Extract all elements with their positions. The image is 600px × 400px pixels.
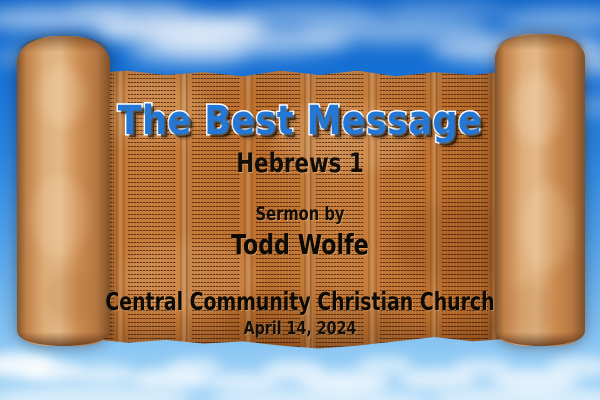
sermon-by-label: Sermon by bbox=[42, 203, 558, 225]
cloud-puff bbox=[72, 364, 136, 384]
church-name: Central Community Christian Church bbox=[48, 287, 552, 316]
scripture-reference: Hebrews 1 bbox=[36, 148, 564, 179]
sermon-slide: The Best Message Hebrews 1 Sermon by Tod… bbox=[0, 0, 600, 400]
cloud-wisp bbox=[378, 2, 508, 20]
sermon-title: The Best Message bbox=[9, 98, 591, 144]
speaker-name: Todd Wolfe bbox=[36, 228, 564, 261]
sermon-date: April 14, 2024 bbox=[36, 318, 564, 339]
